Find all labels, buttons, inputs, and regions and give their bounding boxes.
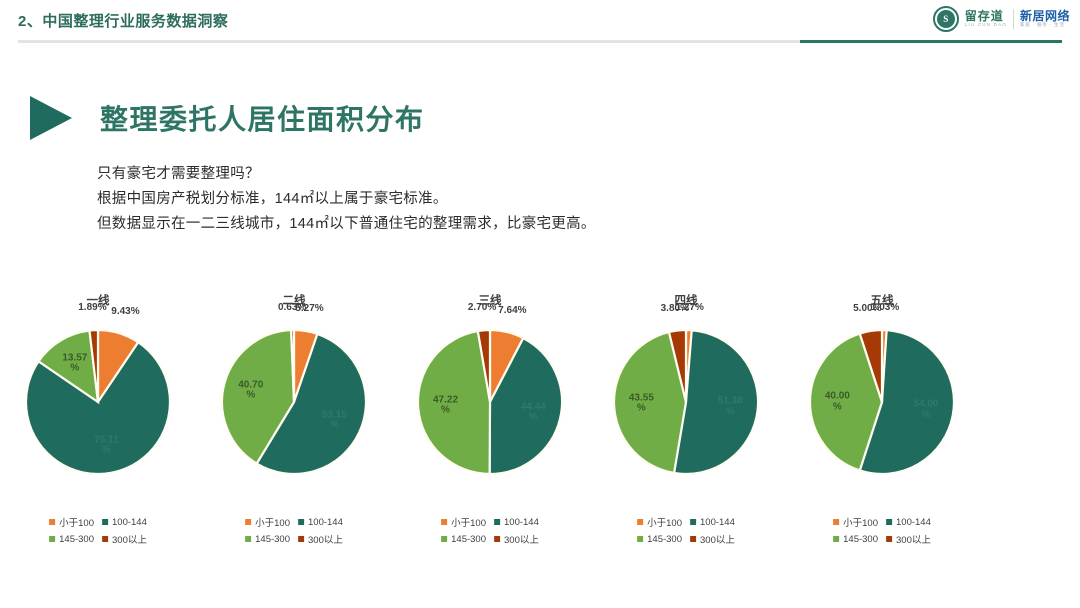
legend-swatch-icon [298, 519, 304, 525]
legend-label: 100-144 [700, 517, 735, 528]
pie-chart-4: 四线1.27%51.38%43.55%3.80%小于100100-144145-… [588, 292, 784, 542]
legend-swatch-icon [102, 519, 108, 525]
legend-item[interactable]: 300以上 [690, 532, 735, 546]
pie-chart-title: 四线 [588, 292, 784, 308]
pie-chart-5: 五线1.03%54.00%40.00%5.00%小于100100-144145-… [784, 292, 980, 542]
slide-header: 2、中国整理行业服务数据洞察 S 留存道 LIU CUN DAO 新居网络 家居… [0, 0, 1080, 50]
legend-label: 145-300 [647, 534, 682, 545]
legend-label: 小于100 [255, 515, 290, 529]
brand-primary: 留存道 LIU CUN DAO [965, 10, 1007, 27]
legend-swatch-icon [886, 536, 892, 542]
triangle-bullet-icon [30, 96, 72, 140]
legend-item[interactable]: 小于100 [245, 515, 290, 529]
legend-swatch-icon [886, 519, 892, 525]
page-title: 整理委托人居住面积分布 [100, 98, 425, 138]
legend-item[interactable]: 145-300 [833, 532, 878, 546]
legend-label: 小于100 [843, 515, 878, 529]
legend-label: 300以上 [896, 532, 931, 546]
legend-item[interactable]: 小于100 [637, 515, 682, 529]
legend-label: 100-144 [896, 517, 931, 528]
legend-swatch-icon [441, 519, 447, 525]
legend-label: 100-144 [112, 517, 147, 528]
pie-chart-3: 三线7.64%44.44%47.22%2.70%小于100100-144145-… [392, 292, 588, 542]
legend-swatch-icon [441, 536, 447, 542]
brand-seal-icon: S [933, 6, 959, 32]
legend-swatch-icon [49, 536, 55, 542]
brand-partner: 新居网络 家居 · 服务 · 生活 [1020, 10, 1070, 27]
legend-swatch-icon [690, 536, 696, 542]
legend-swatch-icon [298, 536, 304, 542]
legend-swatch-icon [833, 519, 839, 525]
legend-swatch-icon [49, 519, 55, 525]
brand-separator [1013, 9, 1014, 29]
pie-graphic: 9.43%75.11%13.57%1.89% [18, 322, 178, 482]
pie-legend: 小于100100-144145-300300以上 [637, 515, 735, 546]
pie-graphic: 1.27%51.38%43.55%3.80% [606, 322, 766, 482]
pie-chart-1: 一线9.43%75.11%13.57%1.89%小于100100-144145-… [0, 292, 196, 542]
legend-item[interactable]: 300以上 [298, 532, 343, 546]
slide-title-row: 整理委托人居住面积分布 [20, 96, 425, 140]
legend-item[interactable]: 100-144 [690, 515, 735, 529]
legend-swatch-icon [245, 519, 251, 525]
legend-item[interactable]: 145-300 [637, 532, 682, 546]
legend-item[interactable]: 小于100 [441, 515, 486, 529]
legend-swatch-icon [637, 536, 643, 542]
legend-swatch-icon [690, 519, 696, 525]
pie-legend: 小于100100-144145-300300以上 [833, 515, 931, 546]
legend-swatch-icon [102, 536, 108, 542]
legend-item[interactable]: 145-300 [49, 532, 94, 546]
brand-logos: S 留存道 LIU CUN DAO 新居网络 家居 · 服务 · 生活 [933, 3, 1070, 35]
legend-label: 100-144 [504, 517, 539, 528]
legend-label: 145-300 [59, 534, 94, 545]
pie-graphic: 1.03%54.00%40.00%5.00% [802, 322, 962, 482]
body-line-2: 根据中国房产税划分标准，144㎡以上属于豪宅标准。 [97, 187, 596, 212]
legend-label: 300以上 [504, 532, 539, 546]
legend-item[interactable]: 300以上 [886, 532, 931, 546]
pie-slice-label: 9.43% [111, 307, 139, 318]
legend-item[interactable]: 145-300 [245, 532, 290, 546]
legend-item[interactable]: 100-144 [494, 515, 539, 529]
legend-item[interactable]: 小于100 [49, 515, 94, 529]
legend-label: 100-144 [308, 517, 343, 528]
slide-root: 2、中国整理行业服务数据洞察 S 留存道 LIU CUN DAO 新居网络 家居… [0, 0, 1080, 608]
legend-label: 小于100 [451, 515, 486, 529]
legend-label: 300以上 [308, 532, 343, 546]
pie-chart-strip: 一线9.43%75.11%13.57%1.89%小于100100-144145-… [0, 292, 1080, 542]
legend-item[interactable]: 300以上 [102, 532, 147, 546]
legend-swatch-icon [494, 536, 500, 542]
legend-label: 145-300 [843, 534, 878, 545]
legend-item[interactable]: 100-144 [298, 515, 343, 529]
body-paragraph: 只有豪宅才需要整理吗？ 根据中国房产税划分标准，144㎡以上属于豪宅标准。 但数… [97, 162, 596, 237]
pie-legend: 小于100100-144145-300300以上 [49, 515, 147, 546]
legend-label: 小于100 [647, 515, 682, 529]
pie-graphic: 5.27%53.15%40.70%0.63% [214, 322, 374, 482]
legend-item[interactable]: 100-144 [886, 515, 931, 529]
legend-swatch-icon [637, 519, 643, 525]
legend-label: 145-300 [451, 534, 486, 545]
brand-name-en: LIU CUN DAO [965, 23, 1007, 28]
pie-legend: 小于100100-144145-300300以上 [441, 515, 539, 546]
pie-chart-title: 三线 [392, 292, 588, 308]
legend-label: 小于100 [59, 515, 94, 529]
pie-graphic: 7.64%44.44%47.22%2.70% [410, 322, 570, 482]
pie-legend: 小于100100-144145-300300以上 [245, 515, 343, 546]
legend-item[interactable]: 300以上 [494, 532, 539, 546]
body-line-1: 只有豪宅才需要整理吗？ [97, 162, 596, 187]
legend-item[interactable]: 小于100 [833, 515, 878, 529]
pie-chart-title: 一线 [0, 292, 196, 308]
legend-label: 145-300 [255, 534, 290, 545]
pie-chart-title: 五线 [784, 292, 980, 308]
legend-item[interactable]: 100-144 [102, 515, 147, 529]
legend-swatch-icon [245, 536, 251, 542]
pie-chart-title: 二线 [196, 292, 392, 308]
legend-label: 300以上 [700, 532, 735, 546]
partner-subtitle: 家居 · 服务 · 生活 [1020, 23, 1070, 28]
legend-swatch-icon [494, 519, 500, 525]
legend-label: 300以上 [112, 532, 147, 546]
header-title: 2、中国整理行业服务数据洞察 [18, 10, 228, 31]
header-divider-accent [800, 40, 1062, 43]
pie-chart-2: 二线5.27%53.15%40.70%0.63%小于100100-144145-… [196, 292, 392, 542]
legend-item[interactable]: 145-300 [441, 532, 486, 546]
body-line-3: 但数据显示在一二三线城市，144㎡以下普通住宅的整理需求，比豪宅更高。 [97, 212, 596, 237]
brand-monogram: S [937, 10, 955, 28]
legend-swatch-icon [833, 536, 839, 542]
pie-slice[interactable] [418, 331, 490, 474]
